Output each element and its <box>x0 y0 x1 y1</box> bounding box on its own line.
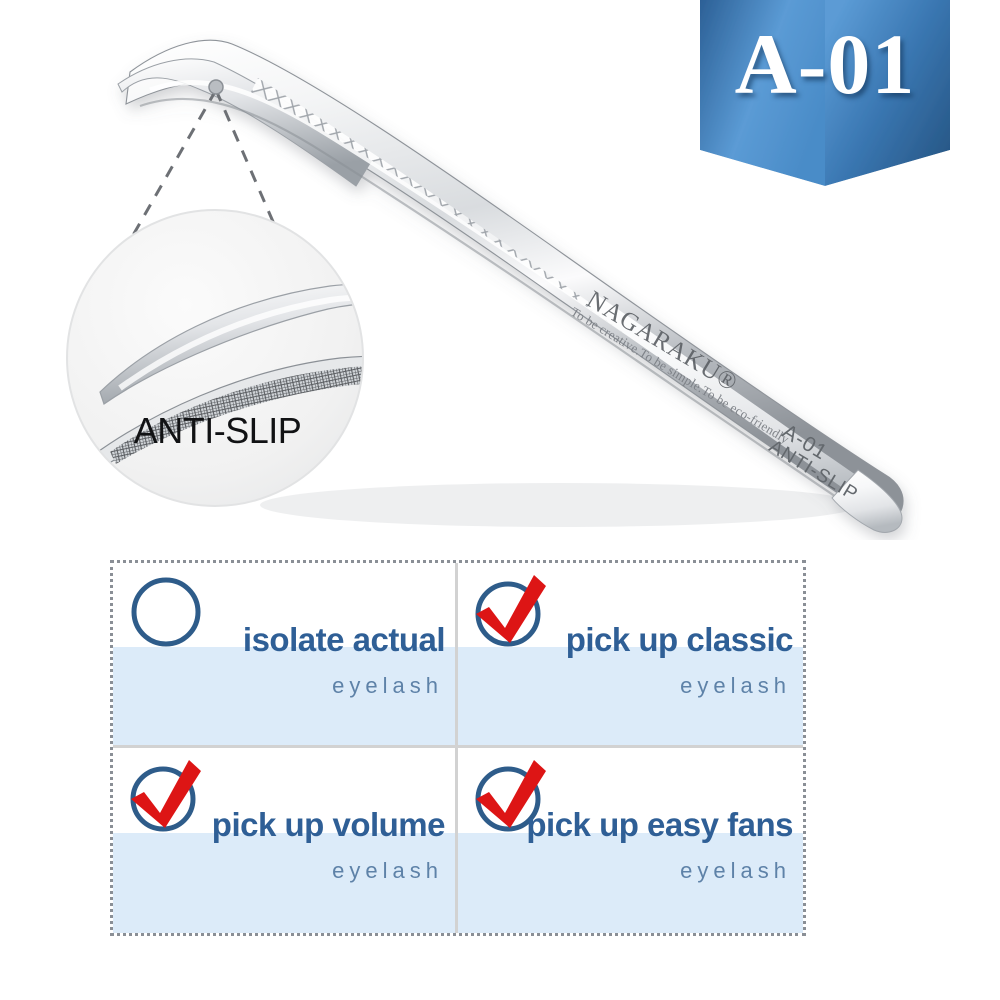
feature-subtitle: eyelash <box>680 673 791 699</box>
product-image-canvas: ANTI-SLIP NAGARAKU® To be creative.To be… <box>0 0 1000 1000</box>
feature-subtitle: eyelash <box>332 673 443 699</box>
feature-title: pick up easy fans <box>526 806 793 844</box>
red-check-circle-icon <box>472 573 550 651</box>
feature-cell-isolate-actual: isolate actual eyelash <box>113 563 458 748</box>
antislip-caption: ANTI-SLIP <box>115 410 320 452</box>
feature-subtitle: eyelash <box>332 858 443 884</box>
feature-title: pick up volume <box>212 806 445 844</box>
feature-subtitle: eyelash <box>680 858 791 884</box>
feature-title: isolate actual <box>243 621 445 659</box>
empty-circle-icon <box>127 573 205 651</box>
feature-cell-pick-up-easy-fans: pick up easy fans eyelash <box>458 748 803 933</box>
feature-grid: isolate actual eyelash pick up classic e… <box>110 560 806 936</box>
magnifier-circle <box>67 210 560 506</box>
feature-title: pick up classic <box>566 621 793 659</box>
feature-cell-pick-up-volume: pick up volume eyelash <box>113 748 458 933</box>
model-badge: A-01 <box>700 0 950 186</box>
feature-cell-pick-up-classic: pick up classic eyelash <box>458 563 803 748</box>
red-check-circle-icon <box>127 758 205 836</box>
